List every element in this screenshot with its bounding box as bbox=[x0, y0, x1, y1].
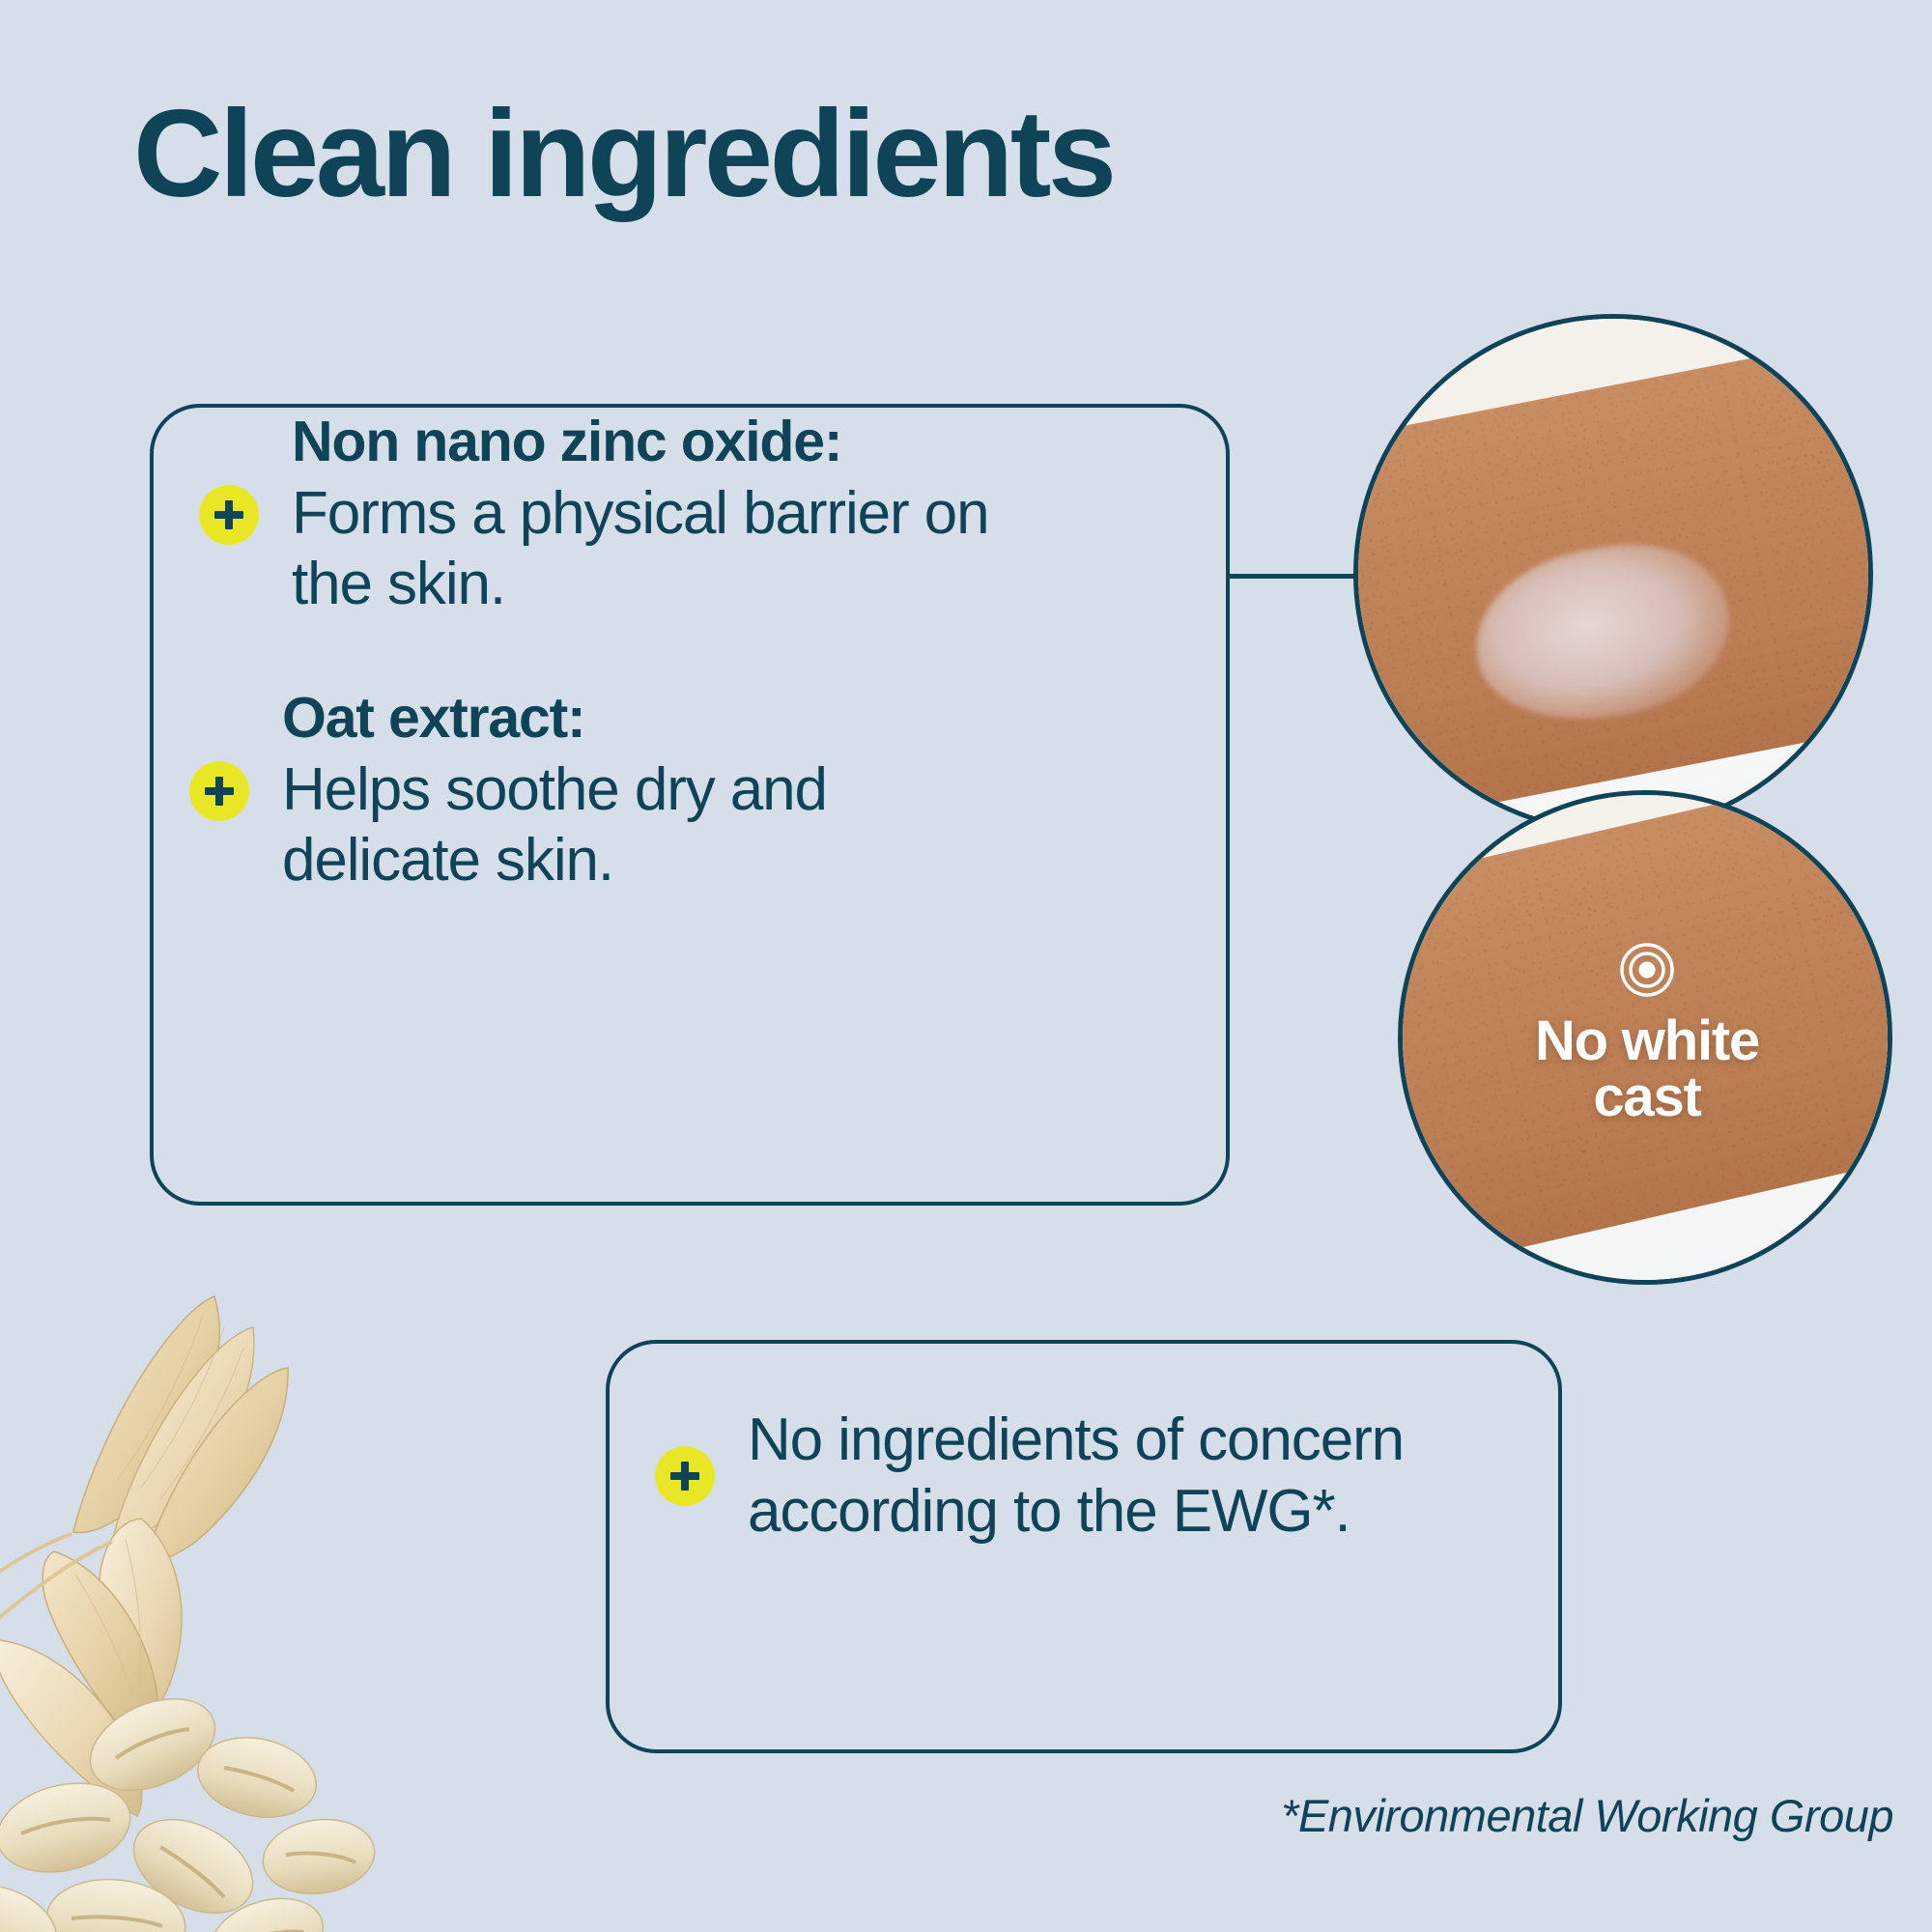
oat-husk-group bbox=[0, 1296, 288, 1816]
photo-inner bbox=[1358, 319, 1868, 829]
bullet-text-group: No ingredients of concern according to t… bbox=[748, 1405, 1524, 1548]
bullet-body: Helps soothe dry and delicate skin. bbox=[282, 755, 1020, 895]
bullet-heading: Oat extract: bbox=[282, 686, 1020, 750]
plus-badge-icon bbox=[189, 761, 249, 821]
no-white-cast-photo bbox=[1398, 790, 1892, 1285]
footnote: *Environmental Working Group bbox=[1101, 1789, 1893, 1842]
bullet-text-group: Oat extract: Helps soothe dry and delica… bbox=[282, 686, 1020, 895]
plus-badge-icon bbox=[655, 1446, 715, 1506]
bullet-body: Forms a physical barrier on the skin. bbox=[292, 479, 1001, 619]
bullet-non-nano-zinc-oxide: Non nano zinc oxide: Forms a physical ba… bbox=[199, 410, 1001, 619]
bullet-body: No ingredients of concern according to t… bbox=[748, 1405, 1524, 1548]
infographic-root: Clean ingredients Non nano zinc oxide: F… bbox=[0, 0, 1932, 1932]
page-title: Clean ingredients bbox=[133, 93, 1582, 216]
oat-grains-decoration bbox=[0, 1256, 512, 1932]
bullet-no-ingredients-of-concern: No ingredients of concern according to t… bbox=[655, 1405, 1524, 1548]
photo-inner bbox=[1403, 795, 1888, 1280]
plus-badge-icon bbox=[199, 485, 259, 545]
oat-flake-group bbox=[0, 1681, 380, 1932]
bullet-text-group: Non nano zinc oxide: Forms a physical ba… bbox=[292, 410, 1001, 619]
zinc-oxide-swatch-photo bbox=[1353, 314, 1873, 834]
bullet-heading: Non nano zinc oxide: bbox=[292, 410, 1001, 473]
bullet-oat-extract: Oat extract: Helps soothe dry and delica… bbox=[189, 686, 1020, 895]
